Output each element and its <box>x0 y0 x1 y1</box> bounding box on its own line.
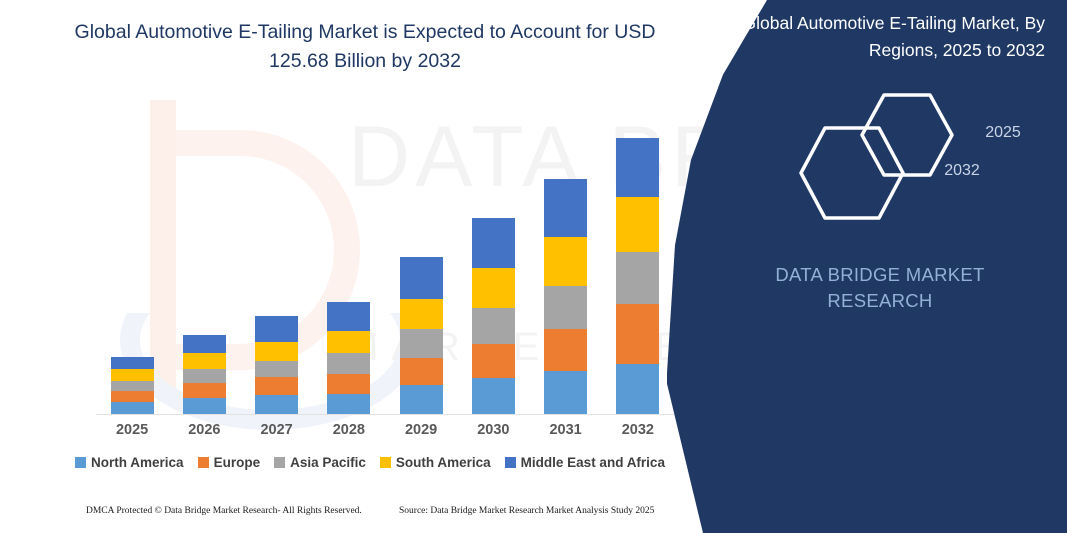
bar-segment <box>544 237 587 286</box>
x-axis-label: 2027 <box>241 422 313 438</box>
bar-segment <box>472 268 515 308</box>
legend-item[interactable]: Europe <box>198 455 261 470</box>
bar-segment <box>255 377 298 395</box>
legend-label: Asia Pacific <box>290 455 366 470</box>
stacked-bar <box>111 357 154 415</box>
bar-segment <box>400 257 443 299</box>
bar-segment <box>400 299 443 329</box>
bar-segment <box>255 342 298 361</box>
bar-segment <box>111 381 154 391</box>
stacked-bar <box>472 218 515 415</box>
bar-column <box>602 95 674 415</box>
bar-segment <box>255 316 298 342</box>
bar-segment <box>400 385 443 415</box>
chart-title: Global Automotive E-Tailing Market is Ex… <box>60 18 670 76</box>
bar-column <box>385 95 457 415</box>
bar-segment <box>616 138 659 197</box>
bar-segment <box>183 398 226 415</box>
bar-chart-plot <box>96 95 674 415</box>
bar-segment <box>327 302 370 331</box>
brand-line-1: DATA BRIDGE MARKET <box>735 262 1025 288</box>
legend-swatch-icon <box>274 457 285 468</box>
bar-segment <box>544 329 587 371</box>
hexagon-badges: 2032 2025 <box>767 92 1047 212</box>
x-axis-labels: 20252026202720282029203020312032 <box>96 422 674 438</box>
bar-segment <box>472 218 515 268</box>
footer-source: Source: Data Bridge Market Research Mark… <box>399 506 654 516</box>
x-axis-label: 2032 <box>602 422 674 438</box>
x-axis-label: 2029 <box>385 422 457 438</box>
bar-segment <box>544 286 587 329</box>
stacked-bar <box>544 179 587 415</box>
bar-segment <box>183 335 226 353</box>
legend-label: North America <box>91 455 184 470</box>
footer-copyright: DMCA Protected © Data Bridge Market Rese… <box>86 506 362 516</box>
bar-segment <box>111 391 154 402</box>
bar-segment <box>255 361 298 377</box>
legend-item[interactable]: North America <box>75 455 184 470</box>
stacked-bar <box>616 138 659 415</box>
bar-segment <box>183 383 226 398</box>
stacked-bar <box>400 257 443 415</box>
x-axis-label: 2031 <box>530 422 602 438</box>
hexagon-outline-icon <box>859 92 955 178</box>
legend-swatch-icon <box>380 457 391 468</box>
legend-label: Europe <box>214 455 261 470</box>
bar-segment <box>472 308 515 344</box>
brand-line-2: RESEARCH <box>735 288 1025 314</box>
bar-segment <box>616 252 659 304</box>
bar-segment <box>616 197 659 252</box>
bar-column <box>96 95 168 415</box>
bar-column <box>530 95 602 415</box>
bar-segment <box>616 304 659 364</box>
bar-segment <box>400 329 443 358</box>
bar-segment <box>472 344 515 378</box>
bar-column <box>241 95 313 415</box>
x-axis-label: 2025 <box>96 422 168 438</box>
bar-segment <box>183 369 226 383</box>
legend-label: Middle East and Africa <box>521 455 665 470</box>
bar-column <box>313 95 385 415</box>
legend-swatch-icon <box>505 457 516 468</box>
stacked-bar <box>327 302 370 415</box>
bar-segment <box>544 371 587 415</box>
bar-segment <box>111 369 154 381</box>
bar-segment <box>327 331 370 353</box>
x-axis-label: 2028 <box>313 422 385 438</box>
x-axis-line <box>96 414 674 415</box>
chart-legend: North AmericaEuropeAsia PacificSouth Ame… <box>60 455 680 470</box>
bar-column <box>168 95 240 415</box>
bar-segment <box>327 353 370 374</box>
x-axis-label: 2030 <box>457 422 529 438</box>
bar-segment <box>327 374 370 394</box>
legend-item[interactable]: Middle East and Africa <box>505 455 665 470</box>
bar-segment <box>111 357 154 369</box>
bar-segment <box>616 364 659 415</box>
stacked-bar <box>255 316 298 415</box>
right-panel: Global Automotive E-Tailing Market, By R… <box>667 0 1067 533</box>
legend-item[interactable]: Asia Pacific <box>274 455 366 470</box>
bar-segment <box>327 394 370 415</box>
bar-segment <box>400 358 443 385</box>
bar-segment <box>255 395 298 415</box>
infographic-page: DATA BRIDGE MARKET RESEARCH Global Autom… <box>0 0 1067 533</box>
hexagon-label-2025: 2025 <box>955 124 1051 142</box>
bar-segment <box>472 378 515 415</box>
legend-swatch-icon <box>75 457 86 468</box>
legend-item[interactable]: South America <box>380 455 491 470</box>
stacked-bar <box>183 335 226 415</box>
bar-segment <box>183 353 226 369</box>
legend-label: South America <box>396 455 491 470</box>
x-axis-label: 2026 <box>168 422 240 438</box>
legend-swatch-icon <box>198 457 209 468</box>
bar-column <box>457 95 529 415</box>
bar-series-container <box>96 95 674 415</box>
bar-segment <box>544 179 587 237</box>
hexagon-badge-2025: 2025 <box>859 92 955 178</box>
brand-text: DATA BRIDGE MARKET RESEARCH <box>735 262 1025 314</box>
panel-title: Global Automotive E-Tailing Market, By R… <box>725 10 1045 64</box>
